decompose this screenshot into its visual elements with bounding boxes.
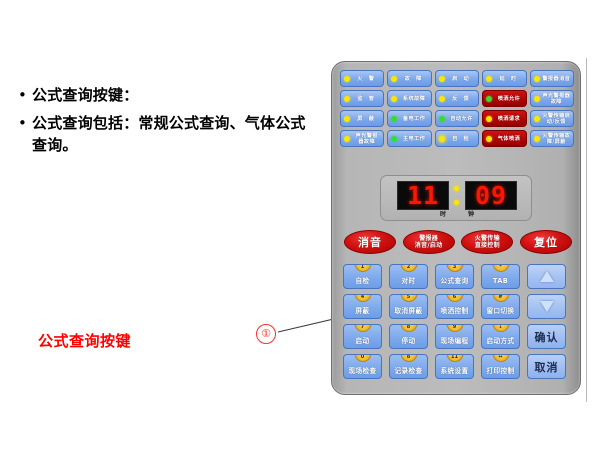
keypad-row: 7启动 8停动 9现场编程 ↓启动方式 确认 [343, 324, 572, 349]
key-cancel[interactable]: 取消 [527, 354, 566, 379]
indicator-label: 监 管 [352, 96, 383, 102]
led-indicator [344, 116, 350, 122]
key-spray-control[interactable]: 6喷洒控制 [435, 294, 474, 319]
key-time-sync[interactable]: 2对时 [389, 264, 428, 289]
fire-transmission-direct-control-button[interactable]: 火警传输 直接控制 [461, 230, 513, 254]
key-label: 屏蔽 [344, 305, 381, 315]
led-indicator [391, 136, 397, 142]
indicator-label: 自 检 [447, 136, 478, 142]
indicator-label: 启 动 [447, 76, 478, 82]
key-record-inspection[interactable]: 8记录检查 [389, 354, 428, 379]
indicator-label: 主电工作 [399, 136, 430, 142]
indicator-label: 火警传输故 障/屏蔽 [542, 133, 573, 145]
bullet-text: 公式查询包括：常规公式查询、气体公式查询。 [32, 112, 308, 156]
bullet-text: 公式查询按键： [32, 84, 138, 106]
indicator-label: 反 馈 [447, 96, 478, 102]
indicator-lamp: 故 障 [387, 70, 431, 87]
indicator-label: 火警传输启 动/反馈 [542, 113, 573, 125]
led-indicator [439, 136, 445, 142]
bullet-marker: • [18, 112, 32, 134]
key-label: 自检 [344, 275, 381, 285]
key-label: 现场编程 [436, 335, 473, 345]
reset-button[interactable]: 复位 [520, 230, 572, 254]
keypad-row: 1自检 2对时 3公式查询 *TAB [343, 264, 572, 289]
led-indicator [344, 136, 350, 142]
button-label: 火警传输 直接控制 [475, 235, 500, 250]
indicator-lamp: 声光警报器 故障 [530, 90, 574, 107]
led-indicator [486, 136, 492, 142]
indicator-lamp: 备电工作 [387, 110, 431, 127]
fire-alarm-control-panel: 火 警 故 障 启 动 延 时 警报器消音 监 管 系统故障 反 馈 喷洒允许 … [331, 61, 581, 395]
key-label: 系统设置 [436, 365, 473, 375]
key-led-icon: * [492, 264, 509, 272]
clock-hour-unit: 时 [440, 209, 446, 218]
indicator-label: 喷洒请求 [494, 116, 525, 122]
silence-button[interactable]: 消音 [344, 230, 396, 254]
clock-unit-labels: 时 钟 [381, 209, 533, 218]
key-cancel-isolate[interactable]: 5取消屏蔽 [389, 294, 428, 319]
annotation-caption: 公式查询按键 [38, 330, 131, 351]
indicator-lamp: 系统故障 [387, 90, 431, 107]
key-led-icon: 7 [354, 324, 371, 332]
key-led-icon: 2 [400, 264, 417, 272]
indicator-label: 备电工作 [399, 116, 430, 122]
indicator-lamp-gas-spray: 气体喷洒 [482, 130, 526, 147]
key-led-icon: 5 [400, 294, 417, 302]
key-label: 记录检查 [390, 365, 427, 375]
key-tab[interactable]: *TAB [481, 264, 520, 289]
indicator-label: 自动允许 [447, 116, 478, 122]
key-led-icon: 11 [446, 354, 463, 362]
key-start-mode[interactable]: ↓启动方式 [481, 324, 520, 349]
key-led-icon: ↔ [492, 354, 509, 362]
led-indicator [486, 116, 492, 122]
led-indicator [534, 116, 540, 122]
key-isolate[interactable]: 4屏蔽 [343, 294, 382, 319]
indicator-lamp: 主电工作 [387, 130, 431, 147]
key-scroll-up[interactable] [527, 264, 566, 289]
indicator-lamp: 警报器消音 [530, 70, 574, 87]
indicator-lamp-selftest: 自 检 [435, 130, 479, 147]
key-field-programming[interactable]: 9现场编程 [435, 324, 474, 349]
indicator-lamp-spray-permit: 喷洒允许 [482, 90, 526, 107]
key-scroll-down[interactable] [527, 294, 566, 319]
button-label: 复位 [534, 234, 558, 250]
indicator-label: 延 时 [494, 76, 525, 82]
clock-minute-unit: 钟 [468, 209, 474, 218]
key-label: 对时 [390, 275, 427, 285]
key-start[interactable]: 7启动 [343, 324, 382, 349]
indicator-label: 喷洒允许 [494, 96, 525, 102]
key-led-icon: 4 [354, 294, 371, 302]
indicator-label: 警报器消音 [542, 76, 573, 82]
key-system-settings[interactable]: 11系统设置 [435, 354, 474, 379]
bullet-marker: • [18, 84, 32, 106]
triangle-up-icon [540, 271, 554, 282]
indicator-lamp: 自动允许 [435, 110, 479, 127]
key-label: 取消屏蔽 [390, 305, 427, 315]
key-label: 现场检查 [344, 365, 381, 375]
indicator-lamp: 屏 蔽 [340, 110, 384, 127]
keypad: 1自检 2对时 3公式查询 *TAB 4屏蔽 5取消屏蔽 6喷洒控制 #窗口切换… [343, 264, 572, 384]
indicator-lamp: 火警传输故 障/屏蔽 [530, 130, 574, 147]
key-self-test[interactable]: 1自检 [343, 264, 382, 289]
indicator-label: 声光警报 器故障 [352, 133, 383, 145]
key-label: 取消 [528, 355, 565, 378]
key-label: 公式查询 [436, 275, 473, 285]
led-indicator [534, 136, 540, 142]
key-formula-query[interactable]: 3公式查询 [435, 264, 474, 289]
list-item: • 公式查询包括：常规公式查询、气体公式查询。 [18, 112, 308, 156]
led-indicator [486, 76, 492, 82]
key-led-icon: 9 [446, 324, 463, 332]
key-confirm[interactable]: 确认 [527, 324, 566, 349]
clock-hours: 11 [397, 181, 449, 210]
led-indicator [439, 116, 445, 122]
divider [586, 58, 587, 402]
key-led-icon: 8 [400, 354, 417, 362]
key-label: 确认 [528, 325, 565, 348]
indicator-lamp: 监 管 [340, 90, 384, 107]
key-led-icon: 3 [446, 264, 463, 272]
led-indicator [391, 116, 397, 122]
keypad-row: 4屏蔽 5取消屏蔽 6喷洒控制 #窗口切换 [343, 294, 572, 319]
digital-clock-display: 11 09 时 钟 [380, 175, 532, 221]
key-led-icon: 0 [354, 354, 371, 362]
button-label: 消音 [358, 234, 382, 250]
indicator-label: 系统故障 [399, 96, 430, 102]
led-indicator [534, 96, 540, 102]
key-label: 喷洒控制 [436, 305, 473, 315]
key-window-switch[interactable]: #窗口切换 [481, 294, 520, 319]
indicator-label: 气体喷洒 [494, 136, 525, 142]
triangle-down-icon [540, 301, 554, 312]
indicator-lamp: 火警传输启 动/反馈 [530, 110, 574, 127]
slide-canvas: • 公式查询按键： • 公式查询包括：常规公式查询、气体公式查询。 公式查询按键… [0, 0, 600, 456]
key-led-icon: 6 [446, 294, 463, 302]
key-led-icon: ↓ [492, 324, 509, 332]
key-label: 停动 [390, 335, 427, 345]
key-stop[interactable]: 8停动 [389, 324, 428, 349]
key-label: 窗口切换 [482, 305, 519, 315]
list-item: • 公式查询按键： [18, 84, 308, 106]
led-indicator [439, 96, 445, 102]
callout-marker-1: ① [256, 324, 276, 344]
key-print-control[interactable]: ↔打印控制 [481, 354, 520, 379]
key-led-icon: 8 [400, 324, 417, 332]
indicator-lamp: 声光警报 器故障 [340, 130, 384, 147]
led-indicator [486, 96, 492, 102]
key-label: 启动方式 [482, 335, 519, 345]
indicator-lamp: 火 警 [340, 70, 384, 87]
keypad-row: 0现场检查 8记录检查 11系统设置 ↔打印控制 取消 [343, 354, 572, 379]
key-label: 打印控制 [482, 365, 519, 375]
led-indicator [534, 76, 540, 82]
indicator-lamp: 反 馈 [435, 90, 479, 107]
led-indicator [391, 96, 397, 102]
led-indicator [391, 76, 397, 82]
led-indicator [439, 76, 445, 82]
indicator-label: 声光警报器 故障 [542, 93, 573, 105]
key-label: TAB [482, 277, 519, 285]
indicator-lamp-grid: 火 警 故 障 启 动 延 时 警报器消音 监 管 系统故障 反 馈 喷洒允许 … [340, 70, 574, 147]
indicator-lamp: 延 时 [482, 70, 526, 87]
bullet-list: • 公式查询按键： • 公式查询包括：常规公式查询、气体公式查询。 [18, 84, 308, 162]
key-led-icon: # [492, 294, 509, 302]
clock-minutes: 09 [465, 181, 517, 210]
indicator-label: 故 障 [399, 76, 430, 82]
led-indicator [344, 96, 350, 102]
key-field-inspection[interactable]: 0现场检查 [343, 354, 382, 379]
indicator-label: 屏 蔽 [352, 116, 383, 122]
indicator-lamp-spray-request: 喷洒请求 [482, 110, 526, 127]
sounder-silence-start-button[interactable]: 警报器 消音/启动 [403, 230, 455, 254]
button-label: 警报器 消音/启动 [415, 235, 443, 250]
led-indicator [344, 76, 350, 82]
indicator-label: 火 警 [352, 76, 383, 82]
action-button-row: 消音 警报器 消音/启动 火警传输 直接控制 复位 [344, 230, 572, 254]
key-label: 启动 [344, 335, 381, 345]
indicator-lamp: 启 动 [435, 70, 479, 87]
key-led-icon: 1 [354, 264, 371, 272]
